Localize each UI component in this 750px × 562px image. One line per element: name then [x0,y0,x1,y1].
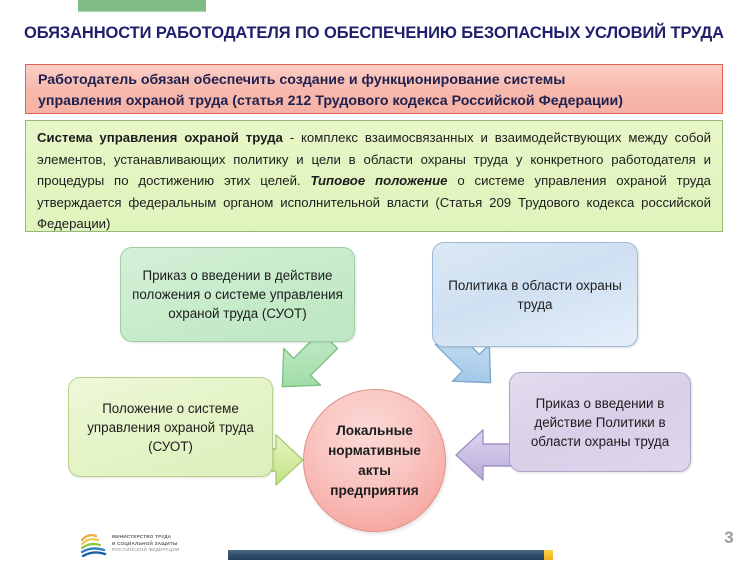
diagram-node-order-policy-label: Приказ о введении в действие Политики в … [520,394,680,451]
employer-duty-line-1: Работодатель обязан обеспечить создание … [38,70,710,91]
diagram-node-policy-label: Политика в области охраны труда [443,276,627,314]
ministry-logo-text: МИНИСТЕРСТВО ТРУДА И СОЦИАЛЬНОЙ ЗАЩИТЫ Р… [112,534,179,553]
ministry-logo: МИНИСТЕРСТВО ТРУДА И СОЦИАЛЬНОЙ ЗАЩИТЫ Р… [80,529,208,559]
diagram-node-order-suot[interactable]: Приказ о введении в действие положения о… [120,247,355,342]
employer-duty-statement: Работодатель обязан обеспечить создание … [25,64,723,114]
diagram-node-order-suot-label: Приказ о введении в действие положения о… [131,266,344,323]
diagram-center-node-local-acts[interactable]: Локальные нормативные акты предприятия [303,389,446,532]
ministry-emblem-icon [80,531,107,557]
ministry-logo-line-3: РОССИЙСКОЙ ФЕДЕРАЦИИ [112,547,179,552]
employer-duty-line-2: управления охраной труда (статья 212 Тру… [38,91,710,112]
diagram-node-order-policy[interactable]: Приказ о введении в действие Политики в … [509,372,691,472]
footer-decoration-bar [228,550,544,560]
page-title: ОБЯЗАННОСТИ РАБОТОДАТЕЛЯ ПО ОБЕСПЕЧЕНИЮ … [24,20,730,46]
local-acts-diagram: Приказ о введении в действие положения о… [0,232,750,532]
diagram-center-node-label: Локальные нормативные акты предприятия [314,421,435,501]
arrow-purple-left-icon [454,424,516,491]
page-number: 3 [718,528,740,548]
suot-definition-term: Система управления охраной труда [37,130,283,145]
ministry-logo-line-1: МИНИСТЕРСТВО ТРУДА [112,534,171,539]
suot-definition-emphasis: Типовое положение [310,173,447,188]
footer-decoration-accent [544,550,553,560]
diagram-node-regulation-suot-label: Положение о системе управления охраной т… [79,399,262,456]
diagram-node-regulation-suot[interactable]: Положение о системе управления охраной т… [68,377,273,477]
top-green-accent-bar [78,0,206,12]
diagram-node-policy[interactable]: Политика в области охраны труда [432,242,638,347]
suot-definition-block: Система управления охраной труда - компл… [25,120,723,232]
ministry-logo-line-2: И СОЦИАЛЬНОЙ ЗАЩИТЫ [112,541,178,546]
